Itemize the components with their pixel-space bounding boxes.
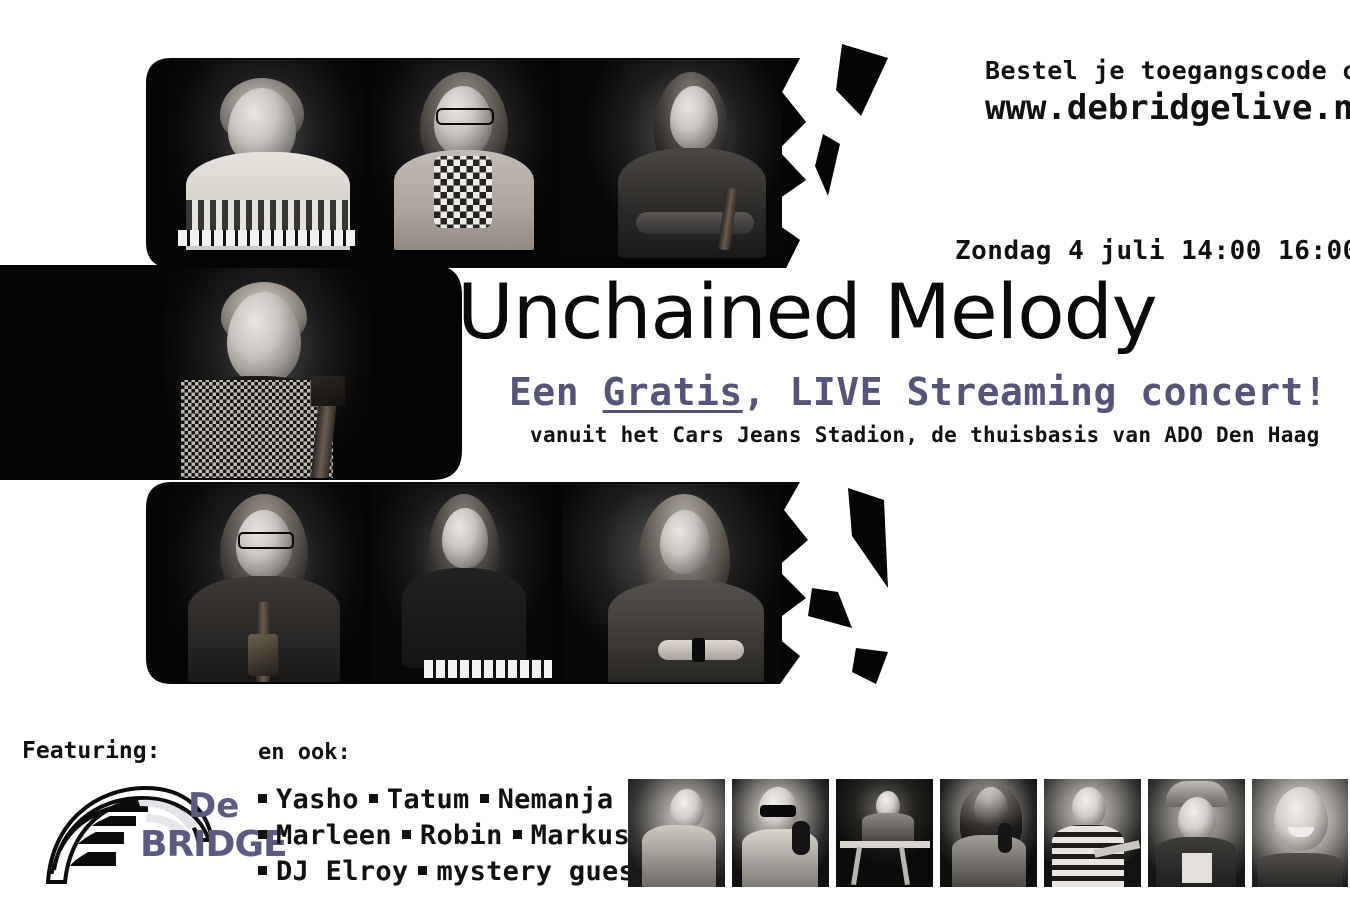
poster-canvas: Bestel je toegangscode op: www.debridgel… bbox=[0, 0, 1350, 900]
thumb-girl-striped-shirt bbox=[1044, 779, 1141, 887]
bullet-icon bbox=[258, 830, 267, 839]
thumb-girl-microphone bbox=[940, 779, 1037, 887]
thumb-singer-sunglasses bbox=[732, 779, 829, 887]
bullet-icon bbox=[480, 794, 489, 803]
portrait-girl-keyboard bbox=[372, 484, 552, 682]
portrait-woman-glasses bbox=[372, 60, 552, 250]
order-prompt: Bestel je toegangscode op: bbox=[985, 56, 1350, 85]
venue-line: vanuit het Cars Jeans Stadion, de thuisb… bbox=[530, 423, 1320, 447]
bullet-icon bbox=[513, 830, 522, 839]
event-datetime: Zondag 4 juli 14:00 16:00 bbox=[955, 236, 1350, 266]
artist-name: Nemanja bbox=[498, 784, 614, 815]
artist-name: DJ Elroy bbox=[276, 856, 408, 887]
thumb-person-keyboard-stage bbox=[836, 779, 933, 887]
bullet-icon bbox=[418, 866, 427, 875]
artist-name: Marleen bbox=[276, 820, 392, 851]
event-subtitle: Een Gratis, LIVE Streaming concert! bbox=[509, 370, 1327, 414]
artist-row: DJ Elroymystery guest bbox=[258, 856, 652, 887]
bullet-icon bbox=[258, 794, 267, 803]
portrait-woman-guitar bbox=[562, 484, 782, 682]
artist-name: Markus bbox=[531, 820, 630, 851]
subtitle-before: Een bbox=[509, 370, 603, 414]
thumb-smiling-boy bbox=[1252, 779, 1348, 887]
portrait-man-longhair bbox=[562, 60, 782, 258]
bullet-icon bbox=[258, 866, 267, 875]
portrait-person-guitar bbox=[168, 484, 364, 682]
bullet-icon bbox=[369, 794, 378, 803]
artist-row: YashoTatumNemanja bbox=[258, 784, 613, 815]
also-label: en ook: bbox=[258, 740, 351, 765]
portrait-man-guitar bbox=[165, 268, 370, 478]
thumb-person-wheelchair bbox=[628, 779, 725, 887]
logo-word-de: De bbox=[188, 786, 239, 826]
page-title: Unchained Melody bbox=[457, 274, 1157, 350]
subtitle-underlined-gratis: Gratis bbox=[603, 370, 743, 414]
artist-row: MarleenRobinMarkus bbox=[258, 820, 630, 851]
portrait-keyboardist-man bbox=[168, 60, 364, 250]
artist-name: Robin bbox=[420, 820, 503, 851]
bullet-icon bbox=[402, 830, 411, 839]
artist-name: mystery guest bbox=[436, 856, 651, 887]
artist-name: Tatum bbox=[387, 784, 470, 815]
featuring-label: Featuring: bbox=[22, 738, 160, 764]
subtitle-after: , LIVE Streaming concert! bbox=[743, 370, 1327, 414]
thumb-boy-hat bbox=[1148, 779, 1245, 887]
website-url[interactable]: www.debridgelive.nl bbox=[985, 88, 1350, 128]
artist-name: Yasho bbox=[276, 784, 359, 815]
